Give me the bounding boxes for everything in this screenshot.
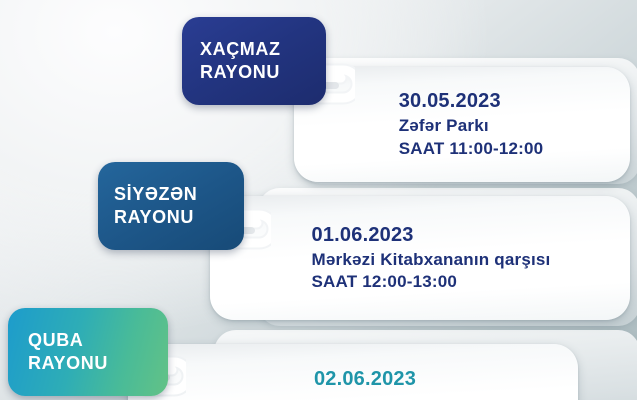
district-tag-xacmaz[interactable]: XAÇMAZ RAYONU [182,17,326,105]
district-tag-line1-quba: QUBA [28,329,168,352]
event-venue-xacmaz: Zəfər Parkı [399,115,544,138]
event-date-xacmaz: 30.05.2023 [399,88,544,115]
event-card-text-xacmaz: 30.05.2023 Zəfər Parkı SAAT 11:00-12:00 [399,88,544,160]
district-tag-line2-quba: RAYONU [28,352,168,375]
district-tag-line2-siyezen: RAYONU [114,206,244,229]
event-venue-siyezen: Mərkəzi Kitabxananın qarşısı [312,249,551,272]
district-tag-quba[interactable]: QUBA RAYONU [8,308,168,396]
event-time-xacmaz: SAAT 11:00-12:00 [399,138,544,161]
event-date-siyezen: 01.06.2023 [312,222,551,249]
poster-canvas: 30.05.2023 Zəfər Parkı SAAT 11:00-12:00 … [0,0,637,400]
district-tag-siyezen[interactable]: SİYƏZƏN RAYONU [98,162,244,250]
district-tag-text-quba: QUBA RAYONU [28,329,168,376]
event-card-xacmaz[interactable]: 30.05.2023 Zəfər Parkı SAAT 11:00-12:00 [294,67,630,182]
district-tag-text-xacmaz: XAÇMAZ RAYONU [200,38,326,85]
event-time-siyezen: SAAT 12:00-13:00 [312,271,551,294]
event-card-siyezen[interactable]: 01.06.2023 Mərkəzi Kitabxananın qarşısı … [210,196,630,320]
district-tag-line1-xacmaz: XAÇMAZ [200,38,326,61]
district-tag-line1-siyezen: SİYƏZƏN [114,183,244,206]
district-tag-text-siyezen: SİYƏZƏN RAYONU [114,183,244,230]
event-date-quba: 02.06.2023 [314,366,416,393]
event-card-quba[interactable]: 02.06.2023 [128,344,578,400]
district-tag-line2-xacmaz: RAYONU [200,61,326,84]
event-card-text-siyezen: 01.06.2023 Mərkəzi Kitabxananın qarşısı … [312,222,551,294]
event-card-text-quba: 02.06.2023 [314,366,416,393]
